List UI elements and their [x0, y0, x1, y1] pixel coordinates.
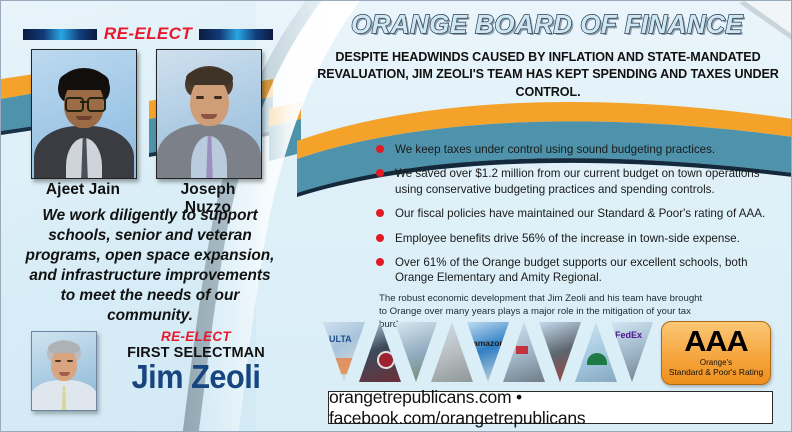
aaa-subtitle-1: Orange's: [700, 358, 732, 367]
zeoli-photo: [31, 331, 97, 411]
montage-tile: [503, 322, 545, 382]
list-item: We saved over $1.2 million from our curr…: [373, 166, 779, 197]
montage-label: FedEx: [615, 330, 642, 340]
list-item: Over 61% of the Orange budget supports o…: [373, 255, 779, 286]
reelect-label: RE-ELECT: [104, 24, 192, 44]
pitch-paragraph: We work diligently to support schools, s…: [21, 206, 279, 326]
montage-tile: [359, 322, 401, 382]
bullet-dot-icon: [376, 145, 384, 153]
montage-tile: ULTA: [323, 322, 365, 382]
list-item: We keep taxes under control using sound …: [373, 142, 779, 157]
reelect-banner: RE-ELECT: [23, 23, 273, 45]
bullet-dot-icon: [376, 258, 384, 266]
page-title: ORANGE BOARD OF FINANCE: [301, 9, 792, 40]
candidate-photo-ajeet-jain: [31, 49, 137, 179]
campaign-flyer: RE-ELECT Ajeet Jain: [0, 0, 792, 432]
bullet-dot-icon: [376, 209, 384, 217]
aaa-subtitle-2: Standard & Poor's Rating: [669, 367, 763, 377]
bullet-text: We saved over $1.2 million from our curr…: [395, 167, 760, 195]
bullet-list: We keep taxes under control using sound …: [373, 142, 779, 295]
montage-tile: [539, 322, 581, 382]
gradient-bar-right: [199, 29, 273, 40]
subheadline: DESPITE HEADWINDS CAUSED BY INFLATION AN…: [309, 49, 787, 101]
montage-tile: [395, 322, 437, 382]
candidate-name-ajeet-jain: Ajeet Jain: [31, 181, 135, 199]
bullet-text: We keep taxes under control using sound …: [395, 143, 715, 156]
status-badge: AAA Orange's Standard & Poor's Rating: [661, 321, 771, 385]
montage-tile: [431, 322, 473, 382]
bullet-dot-icon: [376, 234, 384, 242]
gradient-bar-left: [23, 29, 97, 40]
business-photo-montage: ULTA amazon FedEx: [323, 322, 653, 382]
montage-tile: amazon: [467, 322, 509, 382]
montage-label: ULTA: [329, 334, 352, 344]
zeoli-reelect-label: RE-ELECT: [106, 329, 286, 344]
zeoli-name: Jim Zeoli: [112, 360, 279, 393]
aaa-rating: AAA: [684, 329, 747, 356]
zeoli-text-block: RE-ELECT FIRST SELECTMAN Jim Zeoli: [106, 329, 286, 393]
montage-tile: [575, 322, 617, 382]
candidate-photo-joseph-nuzzo: [156, 49, 262, 179]
montage-tile: FedEx: [611, 322, 653, 382]
bullet-text: Employee benefits drive 56% of the incre…: [395, 232, 740, 245]
list-item: Employee benefits drive 56% of the incre…: [373, 231, 779, 246]
list-item: Our fiscal policies have maintained our …: [373, 206, 779, 221]
bullet-text: Over 61% of the Orange budget supports o…: [395, 256, 748, 284]
bullet-text: Our fiscal policies have maintained our …: [395, 207, 765, 220]
bullet-dot-icon: [376, 169, 384, 177]
website-url-bar[interactable]: orangetrepublicans.com • facebook.com/or…: [328, 391, 773, 424]
url-text: orangetrepublicans.com • facebook.com/or…: [329, 387, 772, 429]
montage-label: amazon: [473, 338, 505, 348]
